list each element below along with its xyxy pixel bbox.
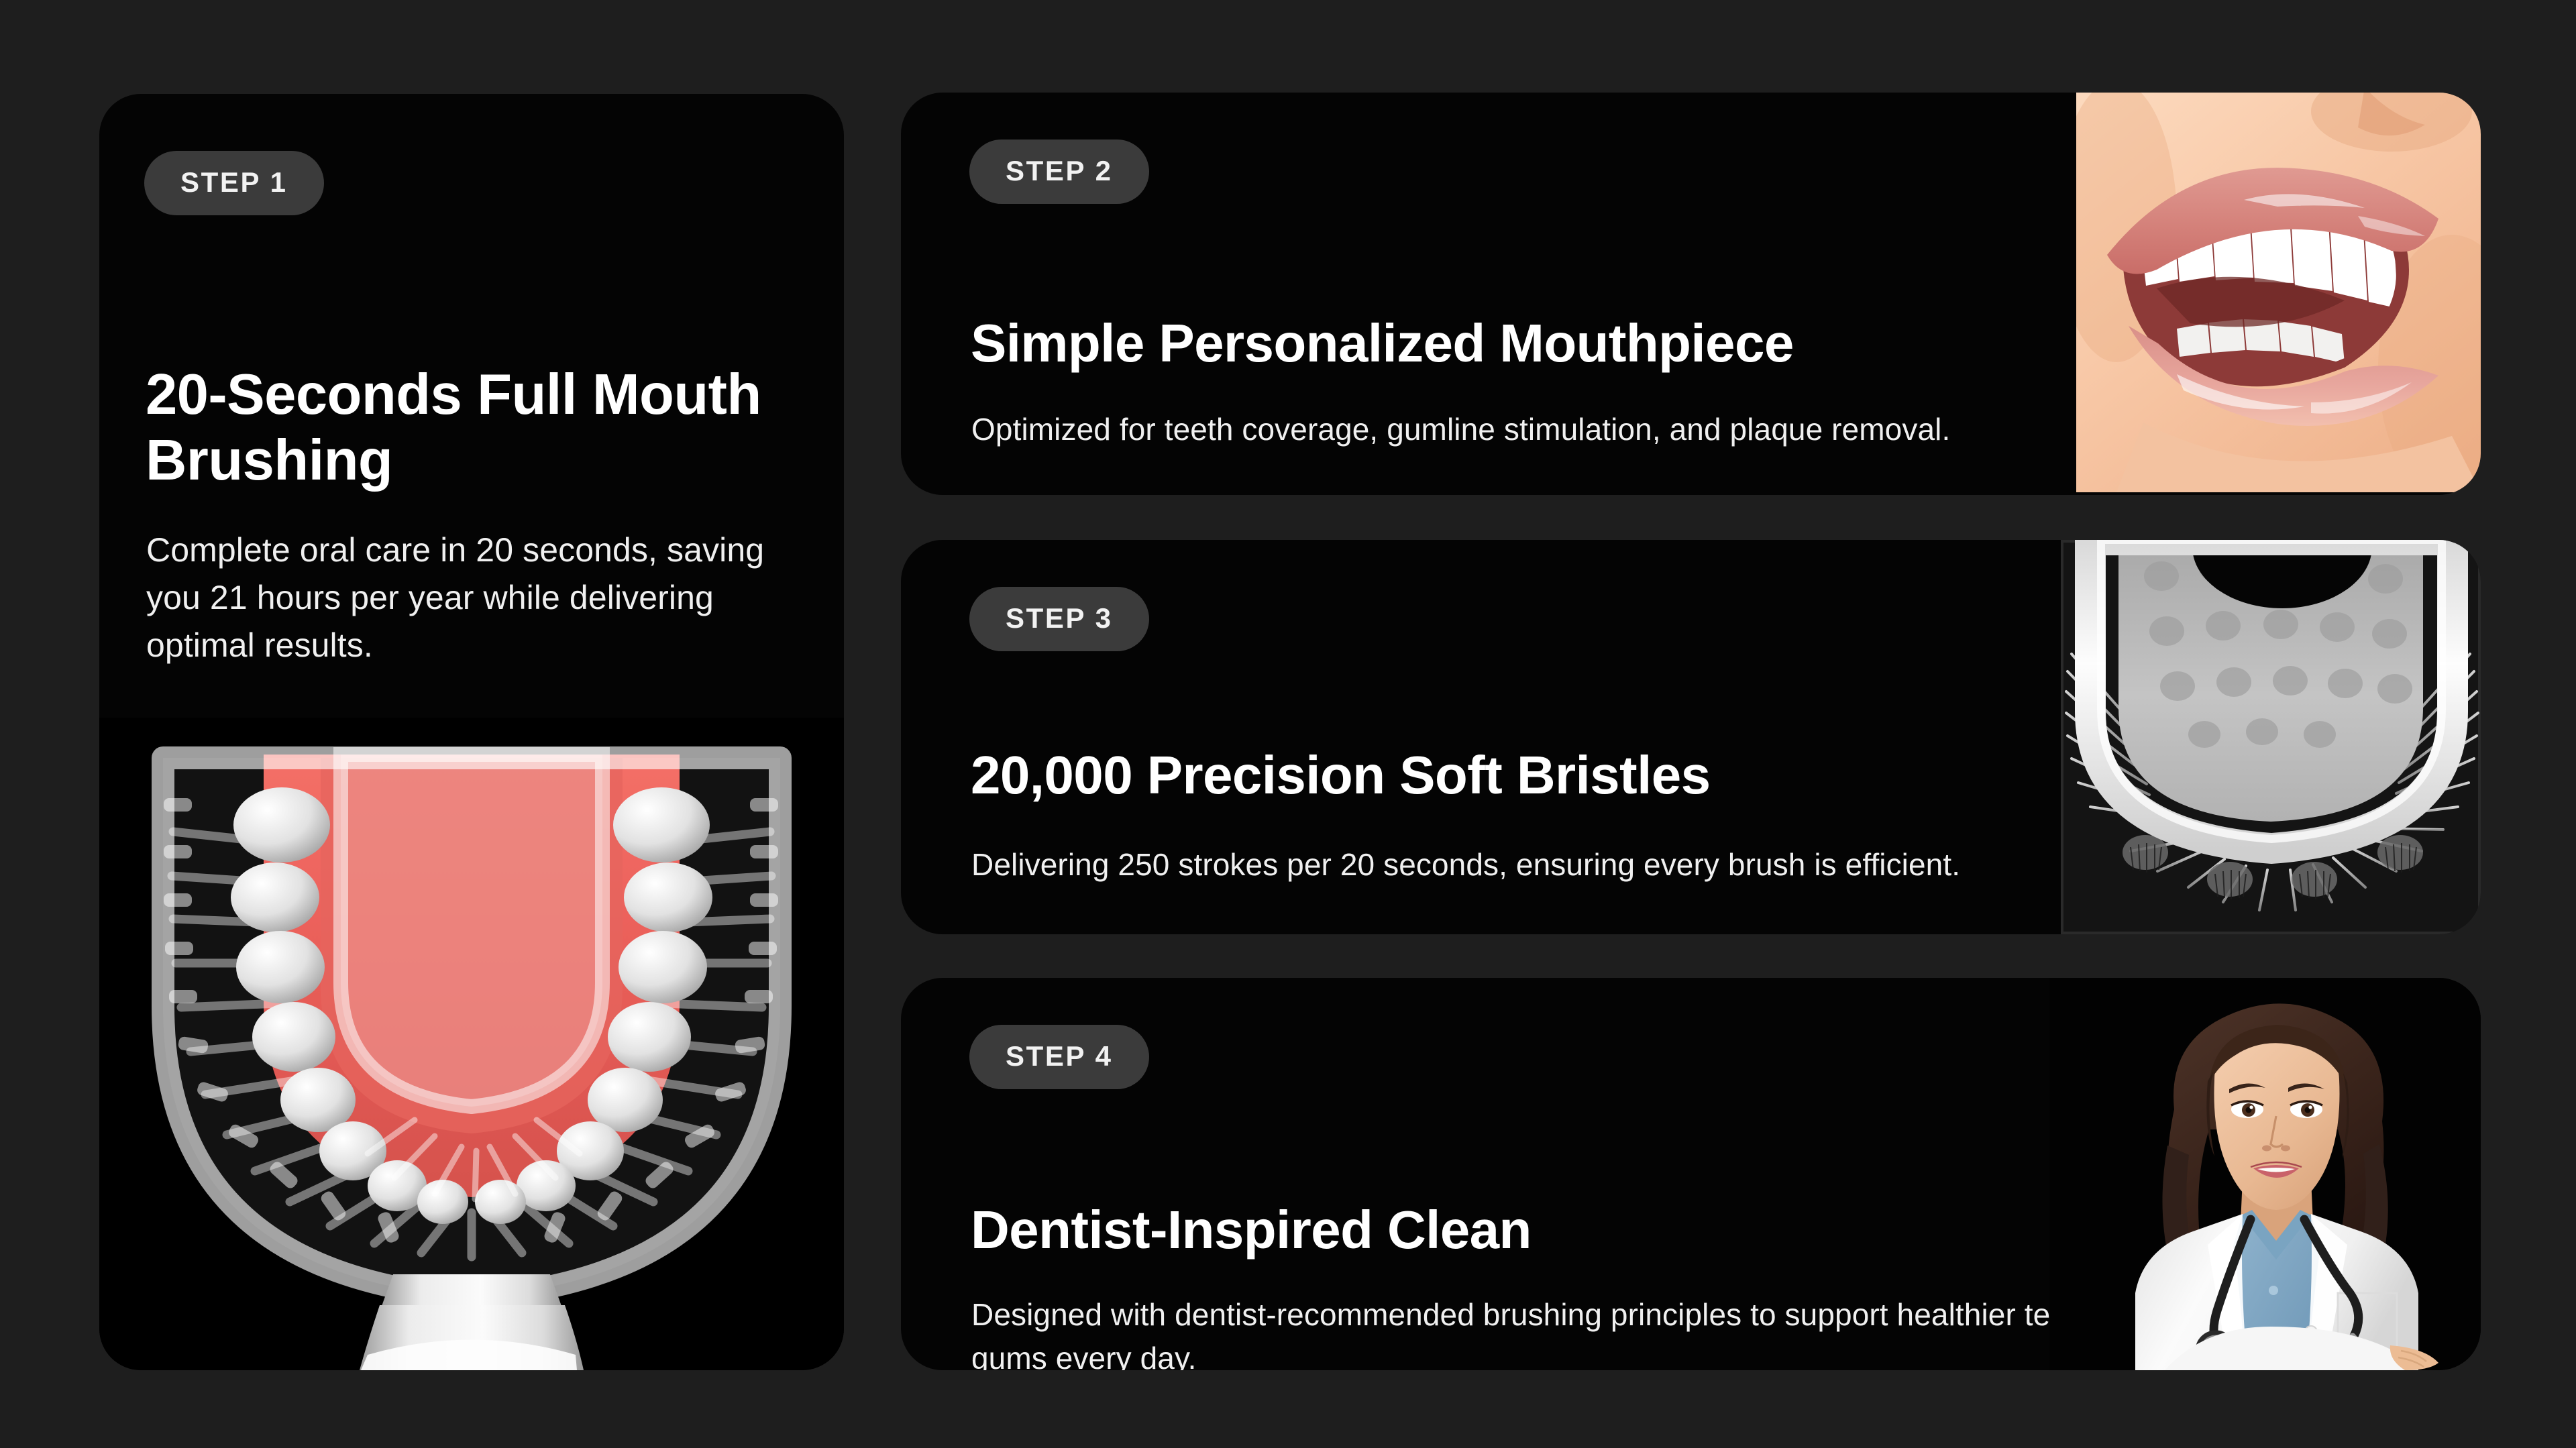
bristles-macro-image: [2061, 540, 2481, 934]
step-card-4[interactable]: STEP 4 Dentist-Inspired Clean Designed w…: [901, 978, 2481, 1370]
dentist-portrait-image: [2049, 978, 2481, 1370]
step-card-1[interactable]: STEP 1 20-Seconds Full Mouth Brushing Co…: [99, 94, 844, 1370]
step-card-2[interactable]: STEP 2 Simple Personalized Mouthpiece Op…: [901, 93, 2481, 495]
step-badge-4: STEP 4: [969, 1025, 1149, 1089]
mouthpiece-product-image: [99, 718, 844, 1370]
step-badge-2: STEP 2: [969, 140, 1149, 204]
step-description-1: Complete oral care in 20 seconds, saving…: [146, 526, 784, 669]
step-card-3[interactable]: STEP 3 20,000 Precision Soft Bristles De…: [901, 540, 2481, 934]
step-description-2: Optimized for teeth coverage, gumline st…: [971, 408, 1951, 451]
step-title-1: 20-Seconds Full Mouth Brushing: [146, 362, 803, 494]
smile-photo: [2076, 93, 2481, 492]
step-title-3: 20,000 Precision Soft Bristles: [971, 744, 2245, 806]
step-description-3: Delivering 250 strokes per 20 seconds, e…: [971, 843, 2018, 887]
step-badge-3: STEP 3: [969, 587, 1149, 651]
step-description-4: Designed with dentist-recommended brushi…: [971, 1293, 2179, 1370]
step-title-2: Simple Personalized Mouthpiece: [971, 313, 2245, 374]
step-badge-1: STEP 1: [144, 151, 324, 215]
feature-steps-section: STEP 1 20-Seconds Full Mouth Brushing Co…: [0, 0, 2576, 1448]
